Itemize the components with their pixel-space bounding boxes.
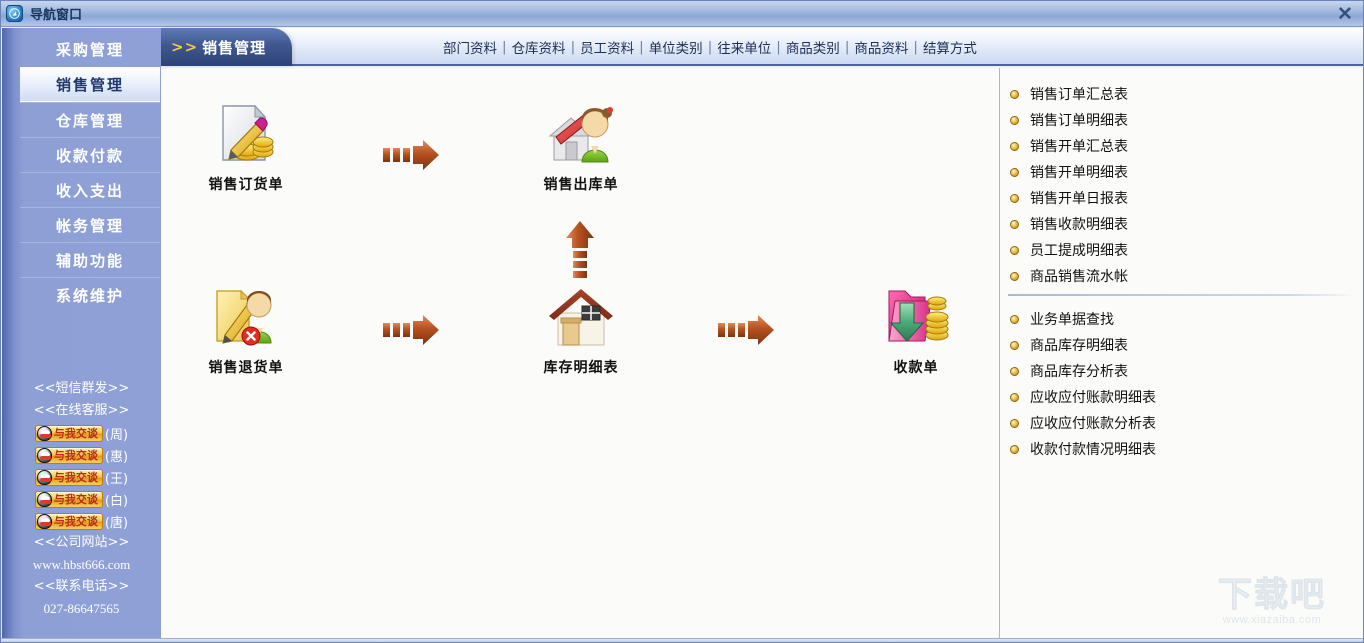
qq-contact-name: (周)	[105, 424, 128, 443]
qq-penguin-icon	[37, 448, 52, 463]
document-pencil-coins-icon	[211, 100, 281, 170]
watermark-url: www.xiazaiba.com	[1223, 614, 1321, 626]
report-item-document-search[interactable]: 业务单据查找	[1000, 306, 1364, 332]
qq-contact-row[interactable]: 与我交谈 (惠)	[2, 444, 161, 466]
report-item-receivable-payable-analysis[interactable]: 应收应付账款分析表	[1000, 410, 1364, 436]
folder-arrow-coins-icon	[881, 283, 951, 353]
report-item-sales-invoice-detail[interactable]: 销售开单明细表	[1000, 159, 1364, 185]
workflow-node-sales-outbound[interactable]: 销售出库单	[511, 100, 651, 194]
qq-chat-button[interactable]: 与我交谈	[35, 513, 103, 530]
report-label: 商品库存明细表	[1030, 335, 1128, 355]
workflow-canvas: 销售订货单	[161, 68, 999, 643]
report-label: 收款付款情况明细表	[1030, 439, 1156, 459]
workflow-node-label: 库存明细表	[511, 357, 651, 377]
bullet-icon	[1010, 194, 1019, 203]
folder-pencil-person-delete-icon	[211, 283, 281, 353]
qq-contact-name: (唐)	[105, 512, 128, 531]
bullet-icon	[1010, 341, 1019, 350]
sidebar-links: <<短信群发>> <<在线客服>> 与我交谈 (周) 与我交谈 (惠)	[2, 378, 161, 620]
qq-penguin-icon	[37, 426, 52, 441]
bullet-icon	[1010, 116, 1019, 125]
qq-chat-button[interactable]: 与我交谈	[35, 447, 103, 464]
tab-link-settlement[interactable]: 结算方式	[919, 37, 981, 57]
workflow-node-label: 销售出库单	[511, 174, 651, 194]
bullet-icon	[1010, 142, 1019, 151]
contact-phone-label: <<联系电话>>	[2, 576, 161, 598]
qq-chat-button[interactable]: 与我交谈	[35, 425, 103, 442]
tab-link-product-category[interactable]: 商品类别	[782, 37, 844, 57]
report-label: 销售开单汇总表	[1030, 136, 1128, 156]
workflow-node-label: 销售退货单	[176, 357, 316, 377]
report-group-inventory-finance: 业务单据查找 商品库存明细表 商品库存分析表 应收应付账款明细表 应收应付账款分…	[1000, 306, 1364, 462]
workflow-node-sales-order[interactable]: 销售订货单	[176, 100, 316, 194]
bullet-icon	[1010, 367, 1019, 376]
qq-chat-button[interactable]: 与我交谈	[35, 491, 103, 508]
report-item-sales-invoice-daily[interactable]: 销售开单日报表	[1000, 185, 1364, 211]
workflow-node-receipt[interactable]: 收款单	[846, 283, 986, 377]
report-label: 应收应付账款分析表	[1030, 413, 1156, 433]
qq-penguin-icon	[37, 514, 52, 529]
warehouse-house-icon	[546, 283, 616, 353]
tab-link-partner-unit[interactable]: 往来单位	[713, 37, 775, 57]
workflow-node-label: 收款单	[846, 357, 986, 377]
report-label: 销售开单明细表	[1030, 162, 1128, 182]
report-group-sales: 销售订单汇总表 销售订单明细表 销售开单汇总表 销售开单明细表 销售开单日报表 …	[1000, 81, 1364, 289]
qq-contact-name: (白)	[105, 490, 128, 509]
qq-chat-label: 与我交谈	[54, 491, 98, 507]
report-item-employee-commission-detail[interactable]: 员工提成明细表	[1000, 237, 1364, 263]
sidebar: 采购管理 销售管理 仓库管理 收款付款 收入支出 帐务管理 辅助功能 系统维护 …	[2, 28, 161, 643]
bullet-icon	[1010, 393, 1019, 402]
company-site-link[interactable]: <<公司网站>>	[2, 532, 161, 554]
tab-link-department[interactable]: 部门资料	[439, 37, 501, 57]
arrow-stock-to-outbound-icon	[563, 218, 597, 280]
house-person-icon	[546, 100, 616, 170]
bullet-icon	[1010, 272, 1019, 281]
sidebar-item-payments[interactable]: 收款付款	[20, 137, 160, 172]
tab-strip: >> 销售管理 部门资料 | 仓库资料 | 员工资料 | 单位类别 | 往来单位…	[161, 28, 1364, 66]
report-label: 业务单据查找	[1030, 309, 1114, 329]
window-title: 导航窗口	[30, 4, 82, 23]
tab-link-employee[interactable]: 员工资料	[576, 37, 638, 57]
report-item-sales-order-summary[interactable]: 销售订单汇总表	[1000, 81, 1364, 107]
report-label: 员工提成明细表	[1030, 240, 1128, 260]
online-service-link[interactable]: <<在线客服>>	[2, 400, 161, 422]
qq-chat-label: 与我交谈	[54, 447, 98, 463]
close-icon[interactable]: ✕	[1331, 3, 1359, 25]
bullet-icon	[1010, 246, 1019, 255]
report-item-sales-order-detail[interactable]: 销售订单明细表	[1000, 107, 1364, 133]
sidebar-item-system[interactable]: 系统维护	[20, 277, 160, 312]
report-label: 销售收款明细表	[1030, 214, 1128, 234]
watermark: 下载吧 www.xiazaiba.com	[1188, 569, 1356, 635]
arrow-order-to-outbound-icon	[381, 138, 443, 172]
tab-link-product-info[interactable]: 商品资料	[850, 37, 912, 57]
workflow-node-stock-detail[interactable]: 库存明细表	[511, 283, 651, 377]
report-item-sales-receipt-detail[interactable]: 销售收款明细表	[1000, 211, 1364, 237]
report-item-product-stock-analysis[interactable]: 商品库存分析表	[1000, 358, 1364, 384]
sidebar-item-auxiliary[interactable]: 辅助功能	[20, 242, 160, 277]
tab-links: 部门资料 | 仓库资料 | 员工资料 | 单位类别 | 往来单位 | 商品类别 …	[439, 28, 981, 66]
tab-sales-management[interactable]: >> 销售管理	[161, 28, 292, 66]
report-label: 应收应付账款明细表	[1030, 387, 1156, 407]
workflow-node-sales-return[interactable]: 销售退货单	[176, 283, 316, 377]
arrow-return-to-stock-icon	[381, 313, 443, 347]
sidebar-menu: 采购管理 销售管理 仓库管理 收款付款 收入支出 帐务管理 辅助功能 系统维护	[20, 32, 160, 312]
qq-chat-button[interactable]: 与我交谈	[35, 469, 103, 486]
report-label: 销售开单日报表	[1030, 188, 1128, 208]
bullet-icon	[1010, 168, 1019, 177]
qq-contact-name: (惠)	[105, 446, 128, 465]
tab-active-label: 销售管理	[202, 37, 266, 58]
report-panel: 销售订单汇总表 销售订单明细表 销售开单汇总表 销售开单明细表 销售开单日报表 …	[999, 68, 1364, 643]
bullet-icon	[1010, 315, 1019, 324]
bullet-icon	[1010, 445, 1019, 454]
sidebar-item-income-expense[interactable]: 收入支出	[20, 172, 160, 207]
tab-link-unit-category[interactable]: 单位类别	[645, 37, 707, 57]
sidebar-item-purchase[interactable]: 采购管理	[20, 32, 160, 67]
report-label: 销售订单明细表	[1030, 110, 1128, 130]
compass-icon	[6, 5, 23, 22]
qq-chat-label: 与我交谈	[54, 469, 98, 485]
report-item-payment-status-detail[interactable]: 收款付款情况明细表	[1000, 436, 1364, 462]
qq-contact-name: (王)	[105, 468, 128, 487]
qq-chat-label: 与我交谈	[54, 513, 98, 529]
watermark-text: 下载吧	[1218, 578, 1326, 612]
qq-contact-row[interactable]: 与我交谈 (王)	[2, 466, 161, 488]
workflow-node-label: 销售订货单	[176, 174, 316, 194]
report-item-product-stock-detail[interactable]: 商品库存明细表	[1000, 332, 1364, 358]
bullet-icon	[1010, 220, 1019, 229]
qq-penguin-icon	[37, 492, 52, 507]
title-bar: 导航窗口 ✕	[1, 1, 1364, 27]
qq-penguin-icon	[37, 470, 52, 485]
sms-link[interactable]: <<短信群发>>	[2, 378, 161, 400]
qq-chat-label: 与我交谈	[54, 425, 98, 441]
bullet-icon	[1010, 419, 1019, 428]
report-item-sales-invoice-summary[interactable]: 销售开单汇总表	[1000, 133, 1364, 159]
contact-phone-number: 027-86647565	[2, 598, 161, 620]
arrow-stock-to-receipt-icon	[716, 313, 778, 347]
qq-contact-row[interactable]: 与我交谈 (白)	[2, 488, 161, 510]
sidebar-item-warehouse[interactable]: 仓库管理	[20, 102, 160, 137]
qq-contact-row[interactable]: 与我交谈 (周)	[2, 422, 161, 444]
tab-chevron-icon: >>	[171, 38, 198, 56]
report-item-receivable-payable-detail[interactable]: 应收应付账款明细表	[1000, 384, 1364, 410]
report-label: 商品库存分析表	[1030, 361, 1128, 381]
report-item-product-sales-journal[interactable]: 商品销售流水帐	[1000, 263, 1364, 289]
report-label: 销售订单汇总表	[1030, 84, 1128, 104]
tab-link-warehouse[interactable]: 仓库资料	[508, 37, 570, 57]
qq-contact-row[interactable]: 与我交谈 (唐)	[2, 510, 161, 532]
sidebar-item-accounting[interactable]: 帐务管理	[20, 207, 160, 242]
sidebar-item-sales[interactable]: 销售管理	[20, 67, 160, 102]
report-group-divider	[1008, 294, 1358, 296]
navigation-window: 导航窗口 ✕ 采购管理 销售管理 仓库管理 收款付款 收入支出 帐务管理 辅助功…	[0, 0, 1364, 643]
bullet-icon	[1010, 90, 1019, 99]
bottom-strip	[1, 638, 1364, 642]
report-label: 商品销售流水帐	[1030, 266, 1128, 286]
website-url[interactable]: www.hbst666.com	[2, 554, 161, 576]
